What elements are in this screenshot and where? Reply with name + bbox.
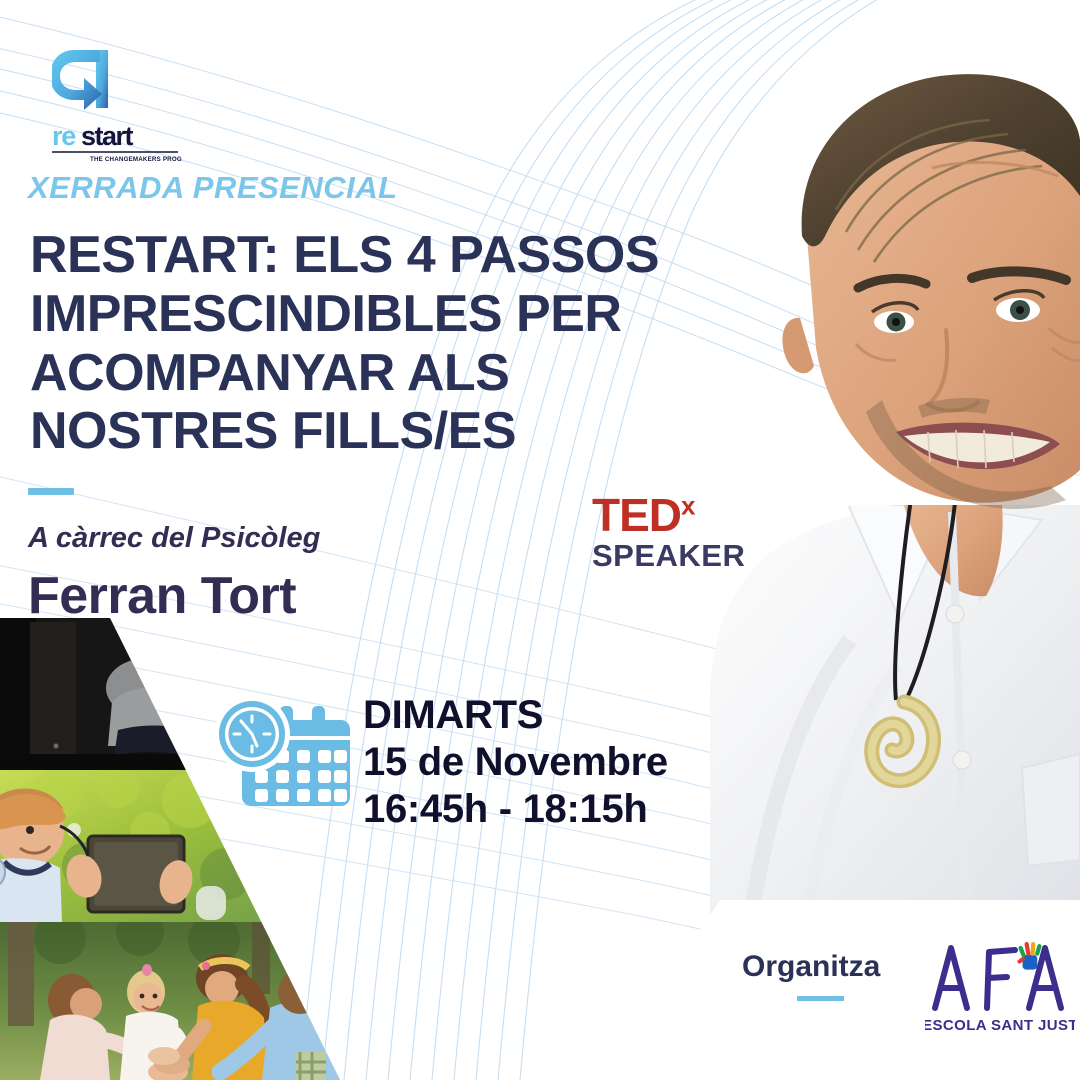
tedx-speaker-badge: TEDx SPEAKER (592, 492, 745, 573)
organizer-label: Organitza (742, 950, 880, 984)
speaker-portrait-photo (650, 0, 1080, 960)
title-line-1: RESTART: ELS 4 PASSOS (30, 226, 730, 285)
tedx-x-text: x (681, 491, 694, 521)
photo-collage (0, 618, 340, 1080)
wordmark-tagline: THE CHANGEMAKERS PROGRAM (90, 156, 182, 163)
restart-wordmark: re start THE CHANGEMAKERS PROGRAM (52, 119, 182, 163)
event-time: 16:45h - 18:15h (363, 786, 668, 833)
event-kicker: XERRADA PRESENCIAL (28, 170, 398, 206)
clock-calendar-icon (208, 692, 356, 817)
tedx-logo: TEDx (592, 492, 745, 538)
event-weekday: DIMARTS (363, 692, 668, 739)
collage-photo-children-playing (0, 922, 340, 1080)
page-title: RESTART: ELS 4 PASSOS IMPRESCINDIBLES PE… (30, 226, 730, 461)
wordmark-re: re (52, 121, 76, 151)
organizer-divider (797, 996, 844, 1001)
title-line-4: NOSTRES FILLS/ES (30, 402, 730, 461)
title-line-3: ACOMPANYAR ALS (30, 344, 730, 403)
accent-divider (28, 488, 74, 495)
tedx-ted-text: TED (592, 489, 681, 541)
wordmark-start: start (81, 121, 134, 151)
restart-arrow-mark-icon (52, 48, 110, 110)
speaker-role: A càrrec del Psicòleg (28, 522, 320, 555)
afa-escola-sant-just-logo[interactable]: ESCOLA SANT JUST (925, 930, 1075, 1038)
restart-logo[interactable]: re start THE CHANGEMAKERS PROGRAM (52, 48, 182, 163)
event-datetime: DIMARTS 15 de Novembre 16:45h - 18:15h (363, 692, 668, 834)
event-date: 15 de Novembre (363, 739, 668, 786)
event-poster: re start THE CHANGEMAKERS PROGRAM XERRAD… (0, 0, 1080, 1080)
afa-subtitle: ESCOLA SANT JUST (925, 1017, 1075, 1034)
speaker-name: Ferran Tort (28, 566, 296, 626)
title-line-2: IMPRESCINDIBLES PER (30, 285, 730, 344)
tedx-speaker-text: SPEAKER (592, 540, 745, 573)
